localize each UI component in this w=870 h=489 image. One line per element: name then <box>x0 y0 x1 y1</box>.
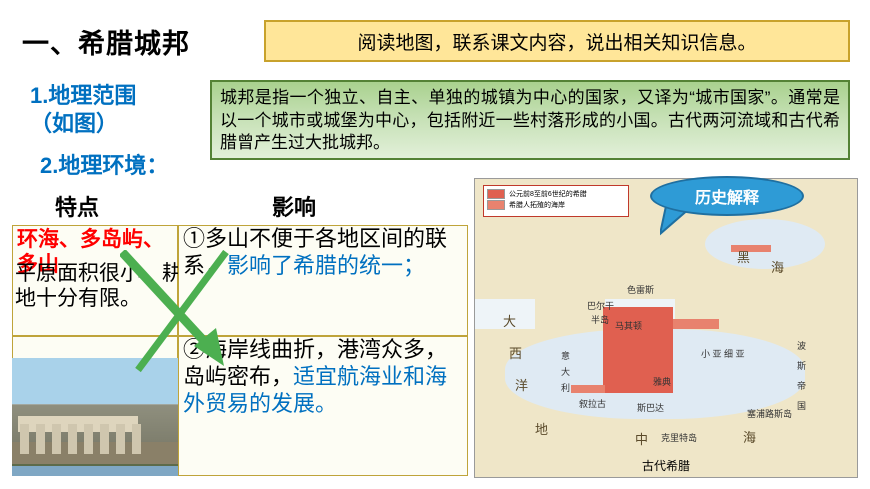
map-label: 地 <box>535 419 551 438</box>
photo-column <box>84 424 93 454</box>
green-arrow <box>120 250 230 380</box>
map-label: 西 <box>509 343 525 362</box>
map-label: 叙拉古 <box>579 397 606 410</box>
map-label: 利 <box>561 381 570 394</box>
map-label: 大 <box>503 311 519 330</box>
photo-column <box>100 424 109 454</box>
table-header-effect: 影响 <box>272 190 316 222</box>
outline-item-2: 2.地理环境： <box>40 148 168 180</box>
photo-column <box>68 424 77 454</box>
definition-text: 城邦是指一个独立、自主、单独的城镇为中心的国家，又译为“城市国家”。通常是以一个… <box>220 87 840 155</box>
outline-item-1: 1.地理范围 （如图） <box>30 82 136 137</box>
outline-item-1-line2: （如图） <box>30 110 136 138</box>
definition-box: 城邦是指一个独立、自主、单独的城镇为中心的国家，又译为“城市国家”。通常是以一个… <box>210 80 850 160</box>
legend-swatch-greece <box>487 189 505 199</box>
map-label: 半岛 <box>591 313 609 326</box>
prompt-callout-box: 阅读地图，联系课文内容，说出相关知识信息。 <box>264 20 850 62</box>
history-explanation-label: 历史解释 <box>695 184 759 208</box>
map-label: 巴尔干 <box>587 299 614 312</box>
photo-column <box>52 424 61 454</box>
map-label: 色雷斯 <box>627 283 654 296</box>
map-label: 塞浦路斯岛 <box>747 407 792 420</box>
photo-column <box>132 424 141 454</box>
map-colonized-coast <box>571 385 605 393</box>
map-label: 国 <box>797 399 806 412</box>
map-label: 小 亚 细 亚 <box>701 347 745 360</box>
legend-label-coast: 希腊人拓殖的海岸 <box>509 200 565 210</box>
map-label: 大 <box>561 365 570 378</box>
map-label: 克里特岛 <box>661 431 697 444</box>
map-label: 海 <box>743 427 759 446</box>
map-legend: 公元前8至前6世纪的希腊 希腊人拓殖的海岸 <box>483 185 629 217</box>
photo-column <box>36 424 45 454</box>
legend-label-greece: 公元前8至前6世纪的希腊 <box>509 189 587 199</box>
map-label: 斯巴达 <box>637 401 664 414</box>
map-label: 意 <box>561 349 570 362</box>
map-label: 黑 <box>737 247 753 266</box>
legend-row: 希腊人拓殖的海岸 <box>487 200 625 210</box>
map-label: 斯 <box>797 359 806 372</box>
map-caption: 古代希腊 <box>475 457 857 474</box>
map-label: 海 <box>771 257 787 276</box>
outline-item-1-line1: 1.地理范围 <box>30 82 136 110</box>
history-explanation-callout: 历史解释 <box>650 176 804 216</box>
map-label: 雅典 <box>653 375 671 388</box>
table-header-feature: 特点 <box>55 190 99 222</box>
map-black-sea <box>705 219 825 269</box>
map-label: 波 <box>797 339 806 352</box>
prompt-text: 阅读地图，联系课文内容，说出相关知识信息。 <box>357 28 756 55</box>
map-label: 帝 <box>797 379 806 392</box>
photo-water-strip <box>12 466 178 476</box>
photo-column <box>20 424 29 454</box>
page-title: 一、希腊城邦 <box>22 22 190 61</box>
photo-column <box>116 424 125 454</box>
legend-row: 公元前8至前6世纪的希腊 <box>487 189 625 199</box>
map-label: 马其顿 <box>615 319 642 332</box>
map-label: 洋 <box>515 375 531 394</box>
map-colonized-coast <box>673 319 719 329</box>
map-label: 中 <box>635 429 651 448</box>
effect-1-part-b: 影响了希腊的统一； <box>227 253 425 278</box>
legend-swatch-coast <box>487 200 505 210</box>
